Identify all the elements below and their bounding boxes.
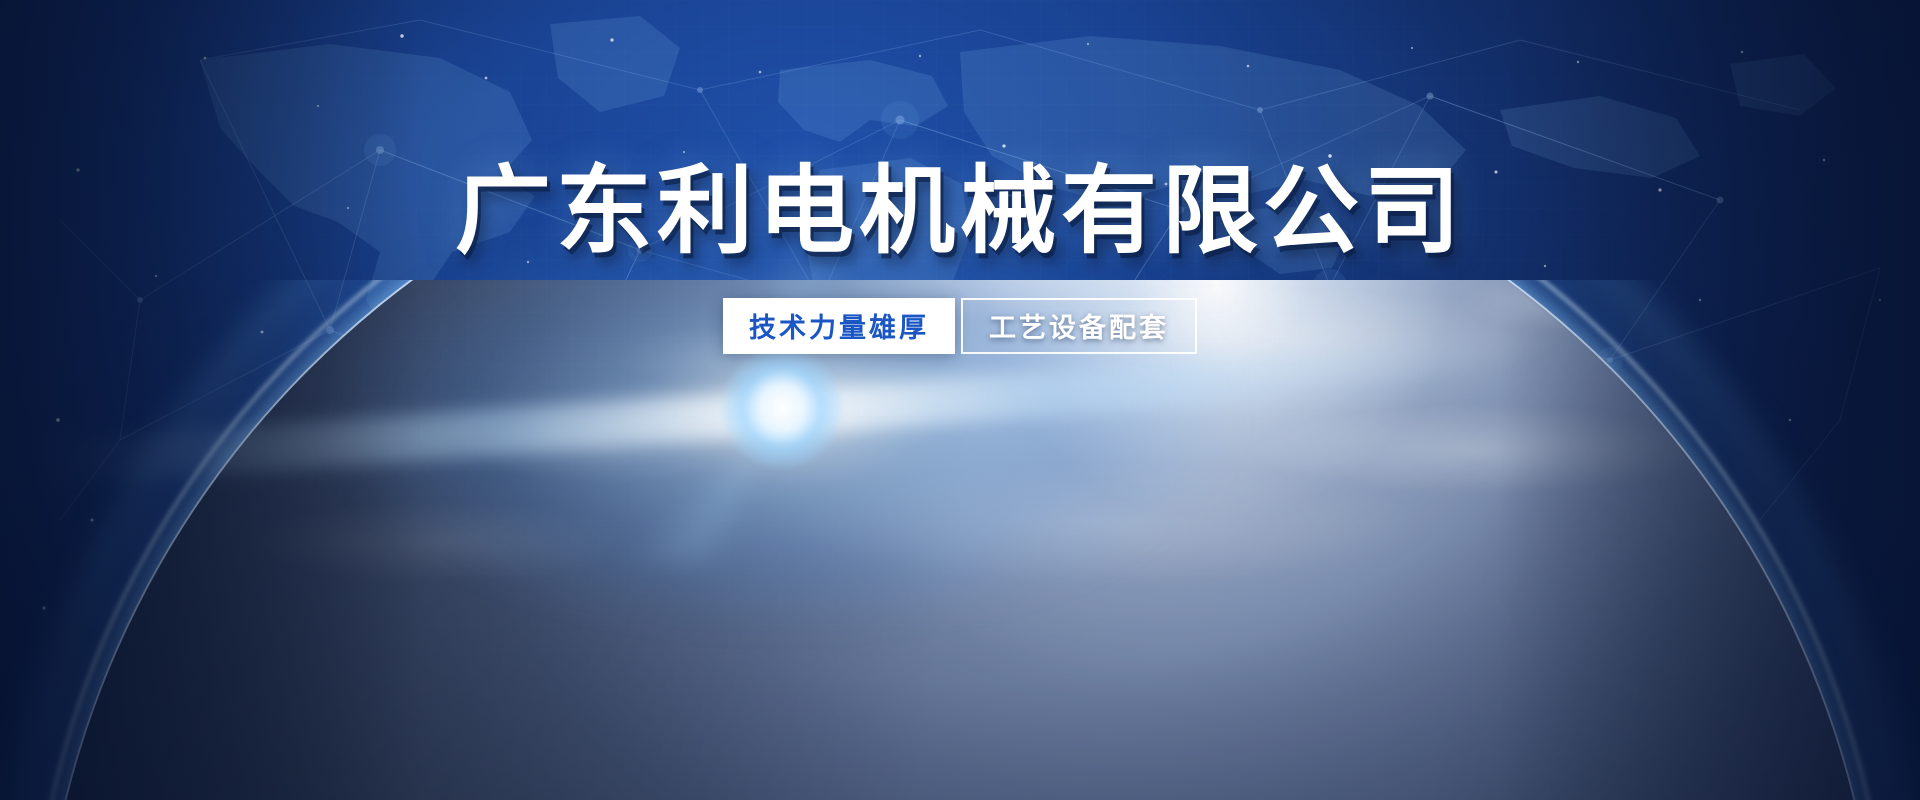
company-headline: 广东利电机械有限公司: [455, 158, 1465, 266]
tagline-badge-group: 技术力量雄厚 工艺设备配套: [723, 298, 1197, 354]
tagline-badge-technology[interactable]: 技术力量雄厚: [723, 298, 955, 354]
tagline-badge-equipment[interactable]: 工艺设备配套: [961, 298, 1197, 354]
hero-banner: 广东利电机械有限公司 技术力量雄厚 工艺设备配套: [0, 0, 1920, 800]
banner-content: 广东利电机械有限公司 技术力量雄厚 工艺设备配套: [0, 0, 1920, 800]
